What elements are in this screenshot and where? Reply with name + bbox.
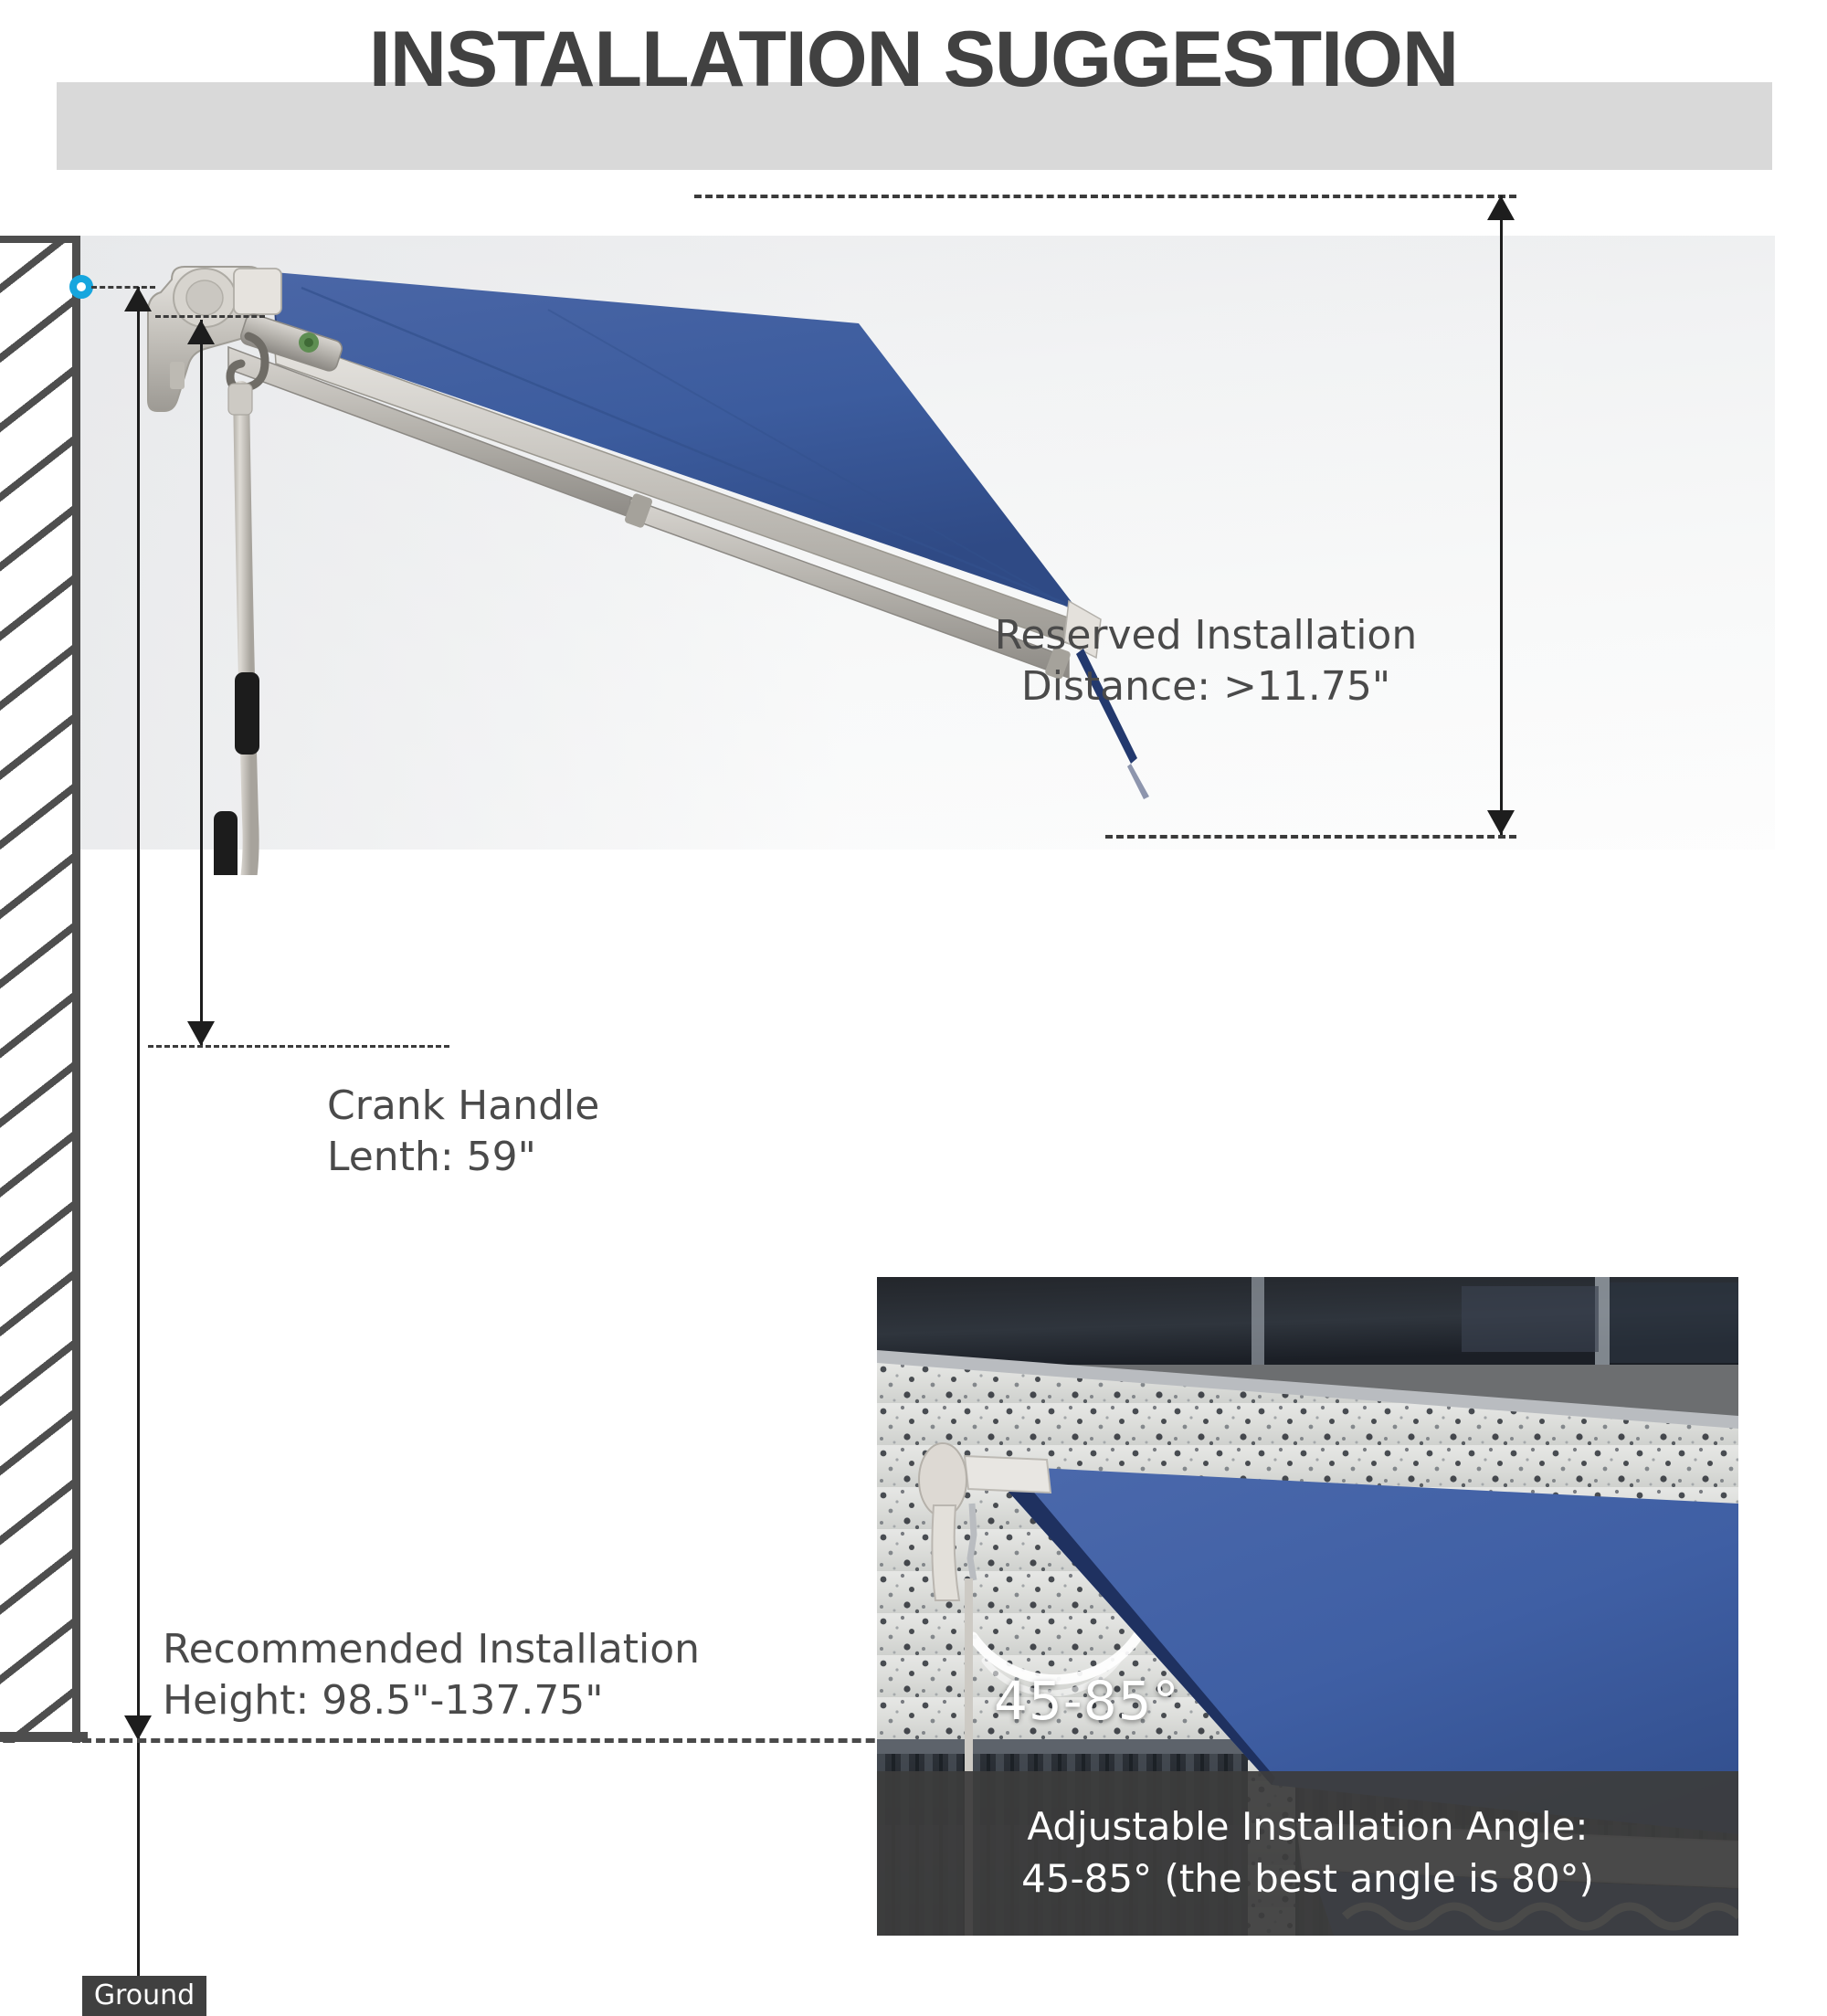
dimension-leader-crank-bottom: [148, 1045, 449, 1048]
mounting-anchor-point-icon: [69, 275, 93, 299]
label-crank-handle-line2: Lenth: 59": [327, 1132, 802, 1183]
dimension-line-crank-length: [200, 320, 203, 1046]
label-crank-handle: Crank Handle Lenth: 59": [327, 1081, 802, 1184]
dimension-arrow-down-reserved: [1487, 810, 1515, 835]
dimension-arrow-up-anchor: [124, 287, 152, 311]
inset-caption-line1: Adjustable Installation Angle:: [1027, 1801, 1588, 1853]
inset-caption: Adjustable Installation Angle: 45-85° (t…: [877, 1771, 1738, 1936]
installation-diagram: Reserved Installation Distance: >11.75" …: [0, 236, 1827, 1827]
label-reserved-distance-line2: Distance: >11.75": [950, 661, 1462, 712]
dimension-arrow-down-ground: [124, 1715, 152, 1740]
label-reserved-distance: Reserved Installation Distance: >11.75": [950, 610, 1462, 713]
dimension-arrow-up-reserved: [1487, 195, 1515, 220]
inset-photo-panel: 45-85° Adjustable Installation Angle: 45…: [877, 1277, 1738, 1936]
dimension-leader-reserved-top: [694, 195, 1516, 198]
inset-angle-overlay-text: 45-85°: [994, 1670, 1180, 1732]
label-recommended-height-line2: Height: 98.5"-137.75": [163, 1675, 820, 1726]
label-recommended-height: Recommended Installation Height: 98.5"-1…: [163, 1624, 820, 1727]
label-crank-handle-line1: Crank Handle: [327, 1081, 802, 1132]
inset-caption-line2: 45-85° (the best angle is 80°): [1021, 1853, 1594, 1905]
dimension-leader-reserved-bottom: [1105, 835, 1516, 839]
dimension-arrow-up-crank: [187, 320, 215, 344]
page-title: INSTALLATION SUGGESTION: [0, 15, 1827, 105]
ground-label: Ground: [82, 1976, 206, 2016]
dimension-line-reserved-distance: [1500, 195, 1503, 835]
wall-footing: [0, 1732, 88, 1742]
label-reserved-distance-line1: Reserved Installation: [950, 610, 1462, 661]
dimension-arrow-down-crank: [187, 1021, 215, 1046]
label-recommended-height-line1: Recommended Installation: [163, 1624, 820, 1675]
dimension-leader-bracket-top: [155, 315, 265, 318]
